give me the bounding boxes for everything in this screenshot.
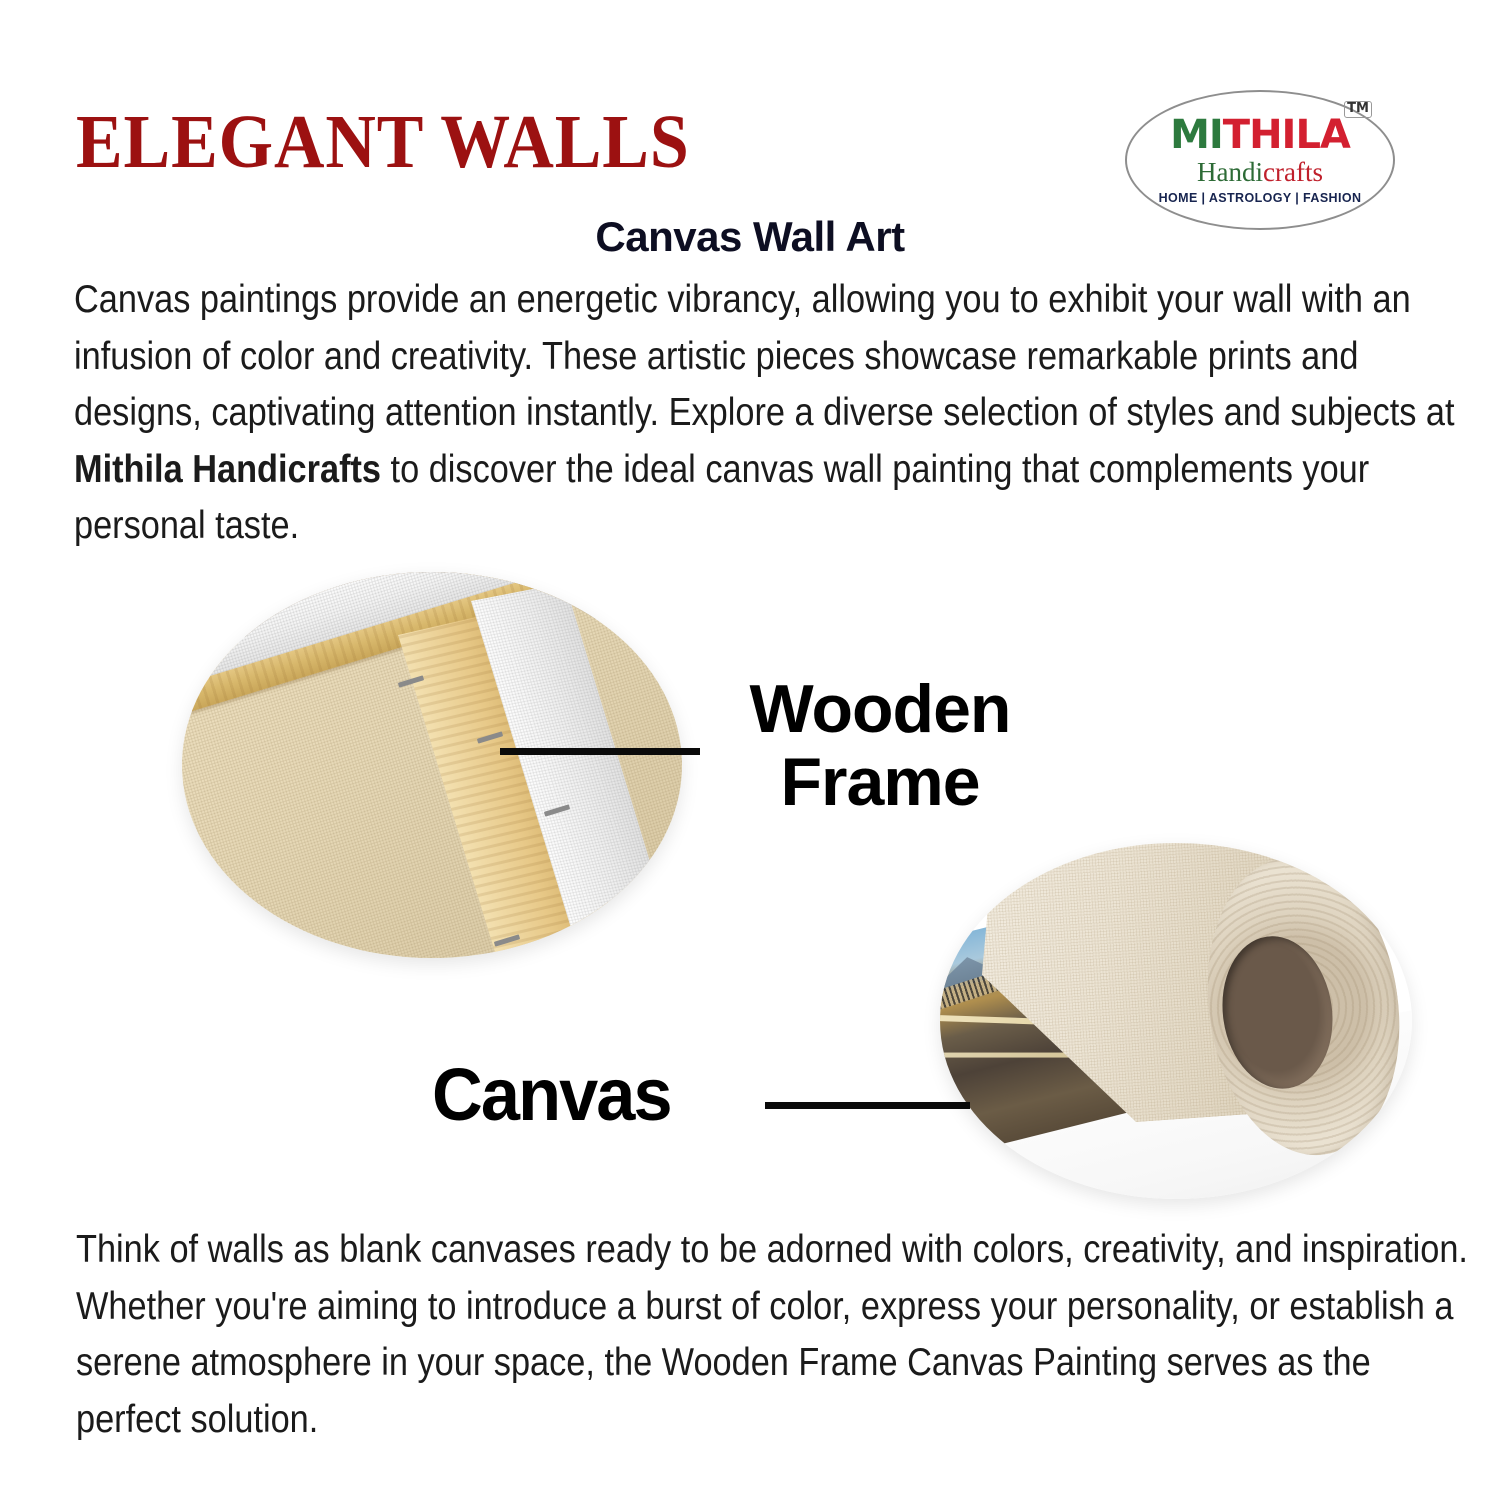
wooden-frame-leader-line <box>500 748 700 755</box>
mithila-handicrafts-logo: MITHILA TM Handicrafts HOME | ASTROLOGY … <box>1125 90 1395 230</box>
wooden-frame-photo-content <box>182 572 682 958</box>
trademark-icon: TM <box>1344 101 1372 117</box>
intro-paragraph-part-1: Canvas paintings provide an energetic vi… <box>74 278 1464 434</box>
logo-content: MITHILA TM Handicrafts HOME | ASTROLOGY … <box>1125 90 1395 230</box>
wooden-frame-label: Wooden Frame <box>700 673 1060 819</box>
section-subtitle: Canvas Wall Art <box>0 213 1500 261</box>
canvas-leader-line <box>765 1102 970 1109</box>
brand-mention: Mithila Handicrafts <box>74 448 381 491</box>
canvas-roll-photo <box>940 843 1412 1199</box>
logo-word-part-2: crafts <box>1263 157 1323 187</box>
wooden-frame-photo <box>182 572 682 958</box>
logo-name-part-1: MI <box>1170 112 1223 158</box>
wooden-frame-label-line-2: Frame <box>700 746 1060 819</box>
logo-name-part-2: THILA <box>1223 112 1350 158</box>
closing-paragraph: Think of walls as blank canvases ready t… <box>76 1222 1484 1448</box>
logo-brand-name: MITHILA TM <box>1170 115 1350 155</box>
infographic-page: ELEGANT WALLS MITHILA TM Handicrafts HOM… <box>0 0 1500 1500</box>
intro-paragraph: Canvas paintings provide an energetic vi… <box>74 272 1491 555</box>
page-title: ELEGANT WALLS <box>76 104 690 180</box>
wooden-frame-label-line-1: Wooden <box>700 673 1060 746</box>
logo-word-part-1: Handi <box>1197 157 1263 187</box>
canvas-label: Canvas <box>432 1058 671 1132</box>
logo-subbrand: Handicrafts <box>1197 158 1323 186</box>
logo-tagline: HOME | ASTROLOGY | FASHION <box>1159 191 1362 205</box>
